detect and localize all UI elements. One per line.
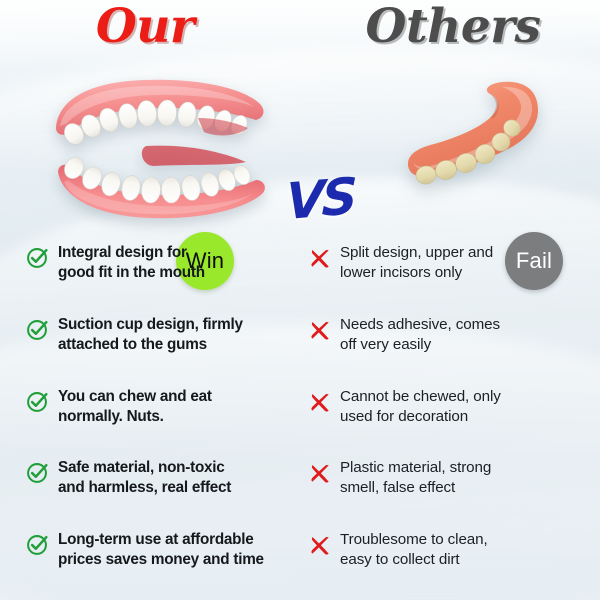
cons-row-line2: off very easily [340,335,596,355]
pros-row-line1: You can chew and eat [58,387,294,407]
pros-column: Integral design for good fit in the mout… [0,241,300,600]
header-cell-left: Our [0,0,300,62]
red-cross-icon [308,241,340,271]
cons-row: Plastic material, strong smell, false ef… [308,456,596,528]
cons-row-line2: smell, false effect [340,478,596,498]
cons-row-text: Needs adhesive, comes off very easily [340,313,596,355]
pros-row: Suction cup design, firmly attached to t… [26,313,294,385]
pros-row-text: Safe material, non-toxic and harmless, r… [58,456,294,498]
cons-row: Needs adhesive, comes off very easily [308,313,596,385]
cons-row: Troublesome to clean, easy to collect di… [308,528,596,600]
pros-row-text: Integral design for good fit in the mout… [58,241,294,283]
cons-row-text: Troublesome to clean, easy to collect di… [340,528,596,570]
pros-row-line2: good fit in the mouth [58,263,294,283]
lower-jaw [50,138,270,230]
cons-row-text: Split design, upper and lower incisors o… [340,241,596,283]
partial-denture-image [398,76,588,216]
green-check-icon [26,313,58,341]
red-cross-icon [308,456,340,486]
green-check-icon [26,241,58,269]
green-check-icon [26,385,58,413]
pros-row-line1: Safe material, non-toxic [58,458,294,478]
cons-row: Split design, upper and lower incisors o… [308,241,596,313]
pros-row-line1: Suction cup design, firmly [58,315,294,335]
cons-row-line2: lower incisors only [340,263,596,283]
header-title-our: Our [96,0,194,54]
cons-row-line1: Needs adhesive, comes [340,315,596,335]
comparison-lists: Integral design for good fit in the mout… [0,241,600,600]
cons-row-line1: Split design, upper and [340,243,596,263]
cons-row-line2: used for decoration [340,407,596,427]
cons-row-line2: easy to collect dirt [340,550,596,570]
green-check-icon [26,528,58,556]
comparison-infographic: Our Others [0,0,600,600]
pros-row-text: You can chew and eat normally. Nuts. [58,385,294,427]
pros-row: Long-term use at affordable prices saves… [26,528,294,600]
pros-row-text: Suction cup design, firmly attached to t… [58,313,294,355]
pros-row-line2: attached to the gums [58,335,294,355]
pros-row-line1: Long-term use at affordable [58,530,294,550]
pros-row-line1: Integral design for [58,243,294,263]
red-cross-icon [308,385,340,415]
cons-column: Split design, upper and lower incisors o… [300,241,600,600]
cons-row-line1: Troublesome to clean, [340,530,596,550]
cons-row-line1: Cannot be chewed, only [340,387,596,407]
header-cell-right: Others [300,0,600,62]
header-title-others: Others [366,0,541,54]
cons-row: Cannot be chewed, only used for decorati… [308,385,596,457]
cons-row-line1: Plastic material, strong [340,458,596,478]
pros-row: You can chew and eat normally. Nuts. [26,385,294,457]
green-check-icon [26,456,58,484]
cons-row-text: Cannot be chewed, only used for decorati… [340,385,596,427]
red-cross-icon [308,528,340,558]
pros-row-line2: and harmless, real effect [58,478,294,498]
vs-label: VS [286,171,355,227]
full-denture-image [48,74,278,229]
pros-row-line2: prices saves money and time [58,550,294,570]
pros-row: Safe material, non-toxic and harmless, r… [26,456,294,528]
pros-row: Integral design for good fit in the mout… [26,241,294,313]
pros-row-text: Long-term use at affordable prices saves… [58,528,294,570]
product-image-row: VS Win Fail [0,62,600,237]
header-row: Our Others [0,0,600,62]
cons-row-text: Plastic material, strong smell, false ef… [340,456,596,498]
pros-row-line2: normally. Nuts. [58,407,294,427]
red-cross-icon [308,313,340,343]
